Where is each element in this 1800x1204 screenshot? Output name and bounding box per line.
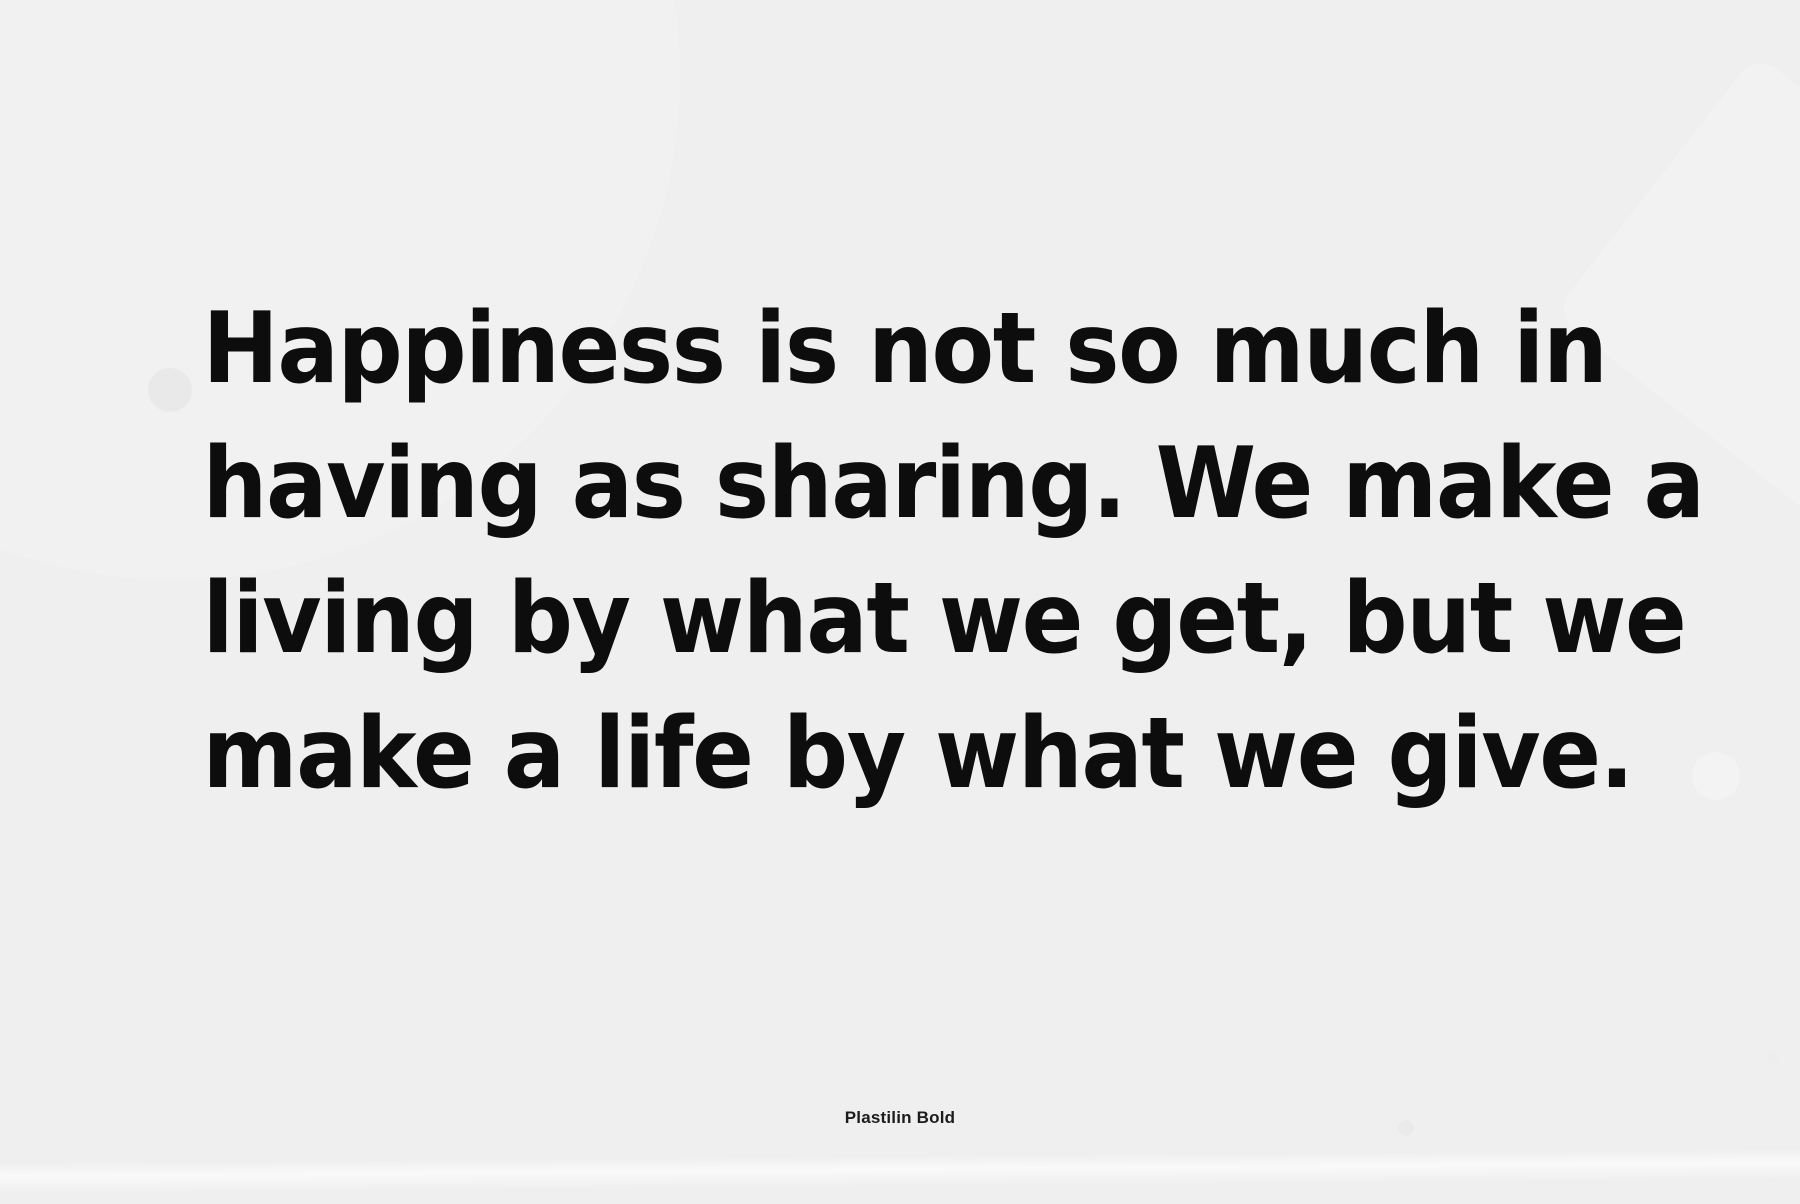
quote-line: living by what we get, but we xyxy=(203,552,1598,687)
quote-line: make a life by what we give. xyxy=(203,687,1598,822)
font-name-caption: Plastilin Bold xyxy=(0,1108,1800,1128)
quote-card: Happiness is not so much in having as sh… xyxy=(0,0,1800,1204)
quote-line: having as sharing. We make a xyxy=(203,417,1598,552)
quote-line: Happiness is not so much in xyxy=(203,282,1598,417)
background-dot-tiny-shape xyxy=(1768,1052,1778,1062)
background-band-bottom-shape xyxy=(0,1148,1800,1193)
quote-text-block: Happiness is not so much in having as sh… xyxy=(0,282,1800,822)
